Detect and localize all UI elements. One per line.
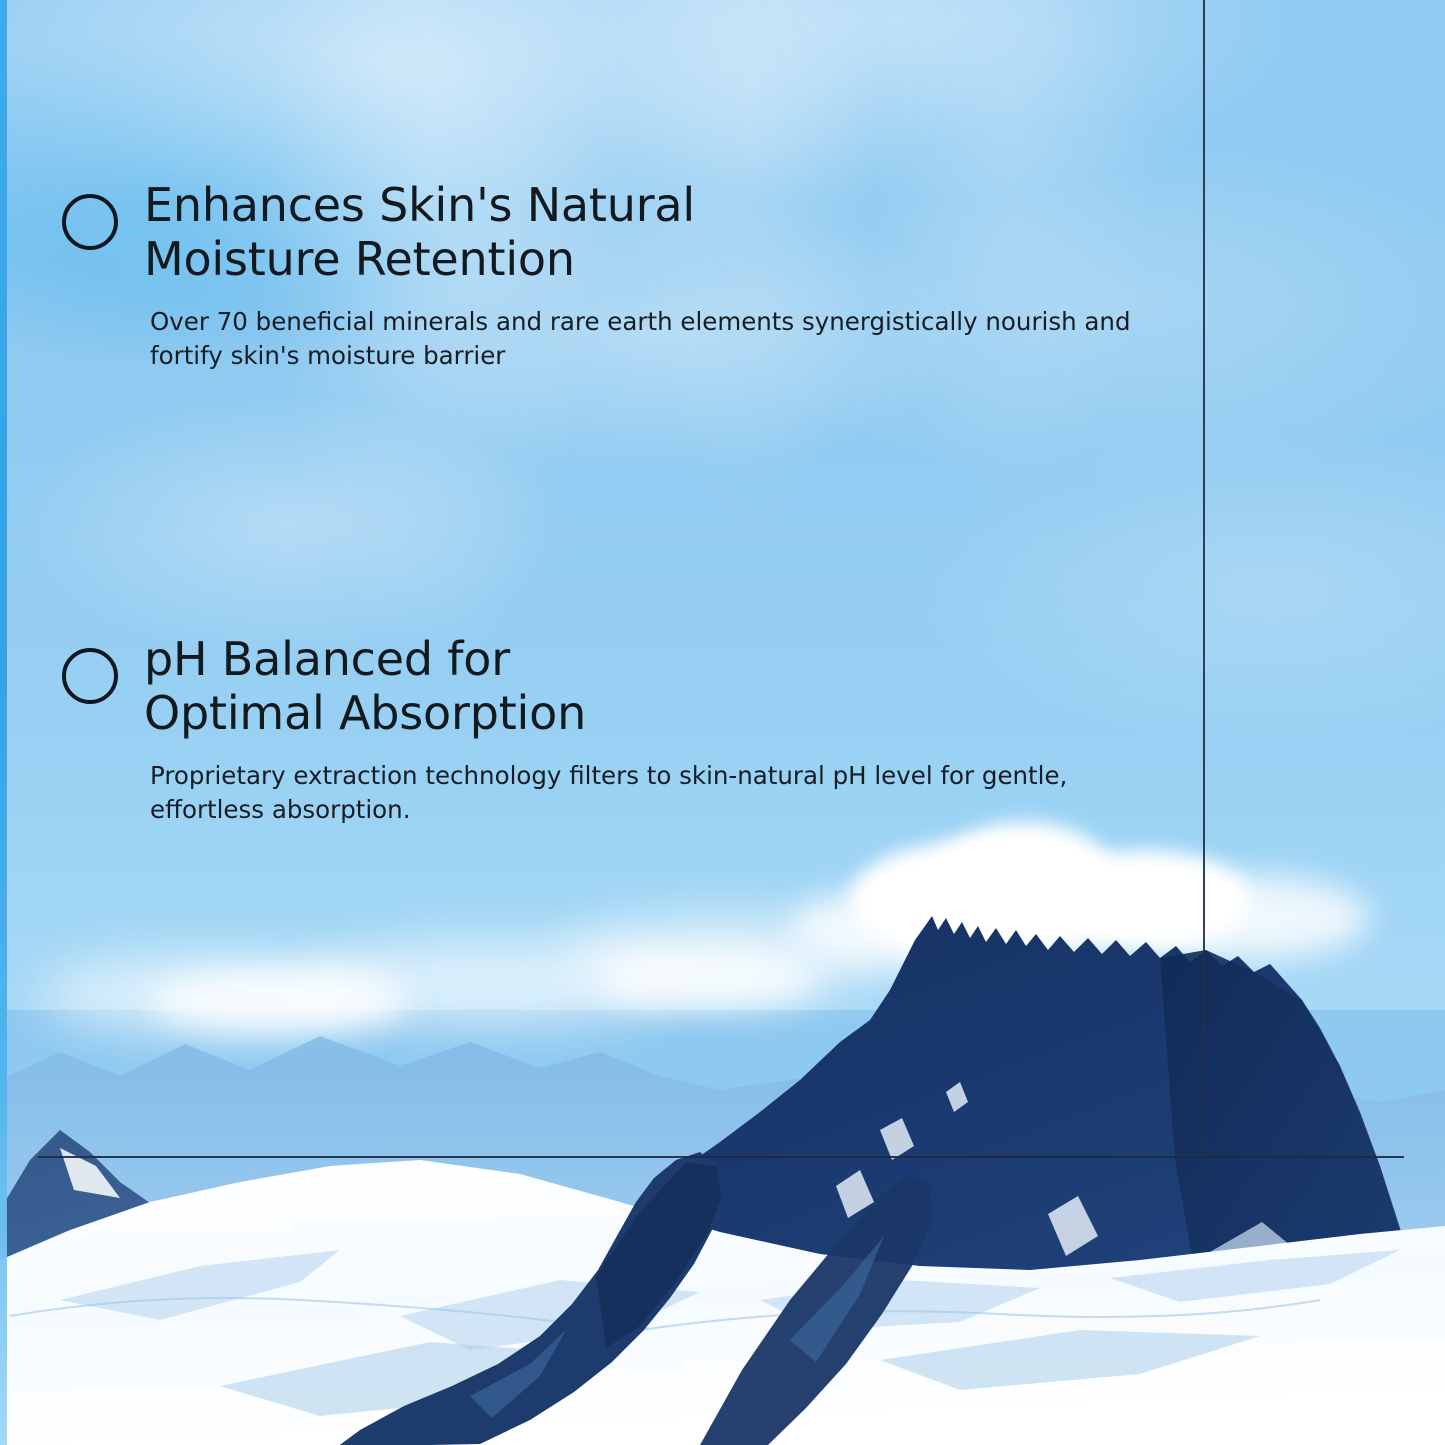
feature-1-description: Over 70 beneficial minerals and rare ear… xyxy=(150,305,1140,375)
circle-outline-icon xyxy=(62,648,118,704)
left-edge-strip xyxy=(0,0,7,1445)
feature-item-2: pH Balanced for Optimal Absorption Propr… xyxy=(62,632,1152,828)
horizontal-guide-line xyxy=(38,1156,1404,1158)
product-feature-banner: Enhances Skin's Natural Moisture Retenti… xyxy=(0,0,1445,1445)
mountain-range xyxy=(0,830,1445,1445)
feature-1-title: Enhances Skin's Natural Moisture Retenti… xyxy=(144,178,695,287)
circle-outline-icon xyxy=(62,194,118,250)
feature-1-heading-row: Enhances Skin's Natural Moisture Retenti… xyxy=(62,178,1152,287)
vertical-guide-line xyxy=(1203,0,1205,1158)
feature-2-heading-row: pH Balanced for Optimal Absorption xyxy=(62,632,1152,741)
feature-2-title: pH Balanced for Optimal Absorption xyxy=(144,632,586,741)
foreground-rock-ridge xyxy=(0,830,1445,1445)
feature-item-1: Enhances Skin's Natural Moisture Retenti… xyxy=(62,178,1152,374)
feature-2-description: Proprietary extraction technology filter… xyxy=(150,759,1140,829)
